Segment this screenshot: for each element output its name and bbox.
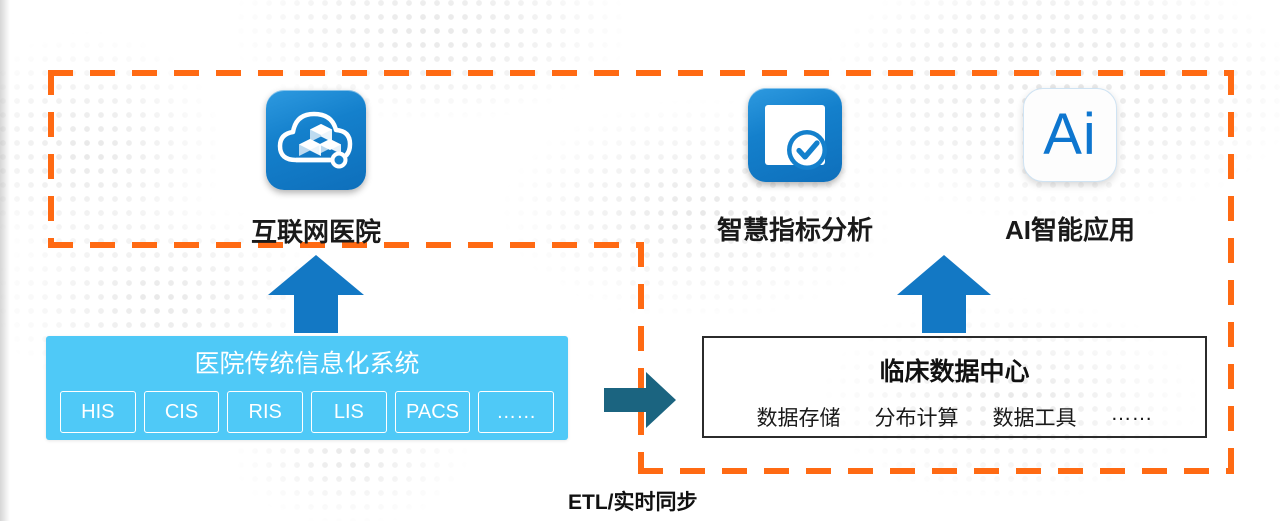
legacy-chip[interactable]: HIS xyxy=(60,391,136,433)
cdc-item[interactable]: 数据存储 xyxy=(757,402,841,432)
clinical-data-center-box[interactable]: 临床数据中心 数据存储 分布计算 数据工具 …… xyxy=(702,336,1207,438)
diagram-canvas: 互联网医院 智慧指标分析 Ai AI智能应用 xyxy=(0,0,1280,521)
ai-icon: Ai xyxy=(1023,88,1117,182)
legacy-chip[interactable]: RIS xyxy=(227,391,303,433)
legacy-system-title: 医院传统信息化系统 xyxy=(46,336,568,377)
background-dot-texture xyxy=(0,0,1280,521)
node-label-ai-application: AI智能应用 xyxy=(970,210,1170,247)
background-dot-texture xyxy=(0,0,1280,521)
cdc-item[interactable]: …… xyxy=(1111,402,1153,432)
legacy-system-chip-row: HIS CIS RIS LIS PACS …… xyxy=(46,391,568,433)
ai-icon-text: Ai xyxy=(1043,106,1097,164)
node-smart-metrics[interactable]: 智慧指标分析 xyxy=(695,88,895,247)
left-edge-shadow xyxy=(0,0,10,521)
legacy-chip[interactable]: PACS xyxy=(395,391,471,433)
arrow-up-icon xyxy=(897,255,991,338)
background-dot-texture xyxy=(0,0,1280,521)
clinical-data-center-title: 临床数据中心 xyxy=(704,352,1205,388)
legacy-chip[interactable]: …… xyxy=(478,391,554,433)
clinical-data-center-item-row: 数据存储 分布计算 数据工具 …… xyxy=(704,402,1205,432)
chart-check-icon xyxy=(748,88,842,182)
arrow-up-icon xyxy=(268,255,364,338)
cdc-item[interactable]: 数据工具 xyxy=(993,402,1077,432)
etl-sync-label: ETL/实时同步 xyxy=(568,486,698,516)
cdc-item[interactable]: 分布计算 xyxy=(875,402,959,432)
node-label-internet-hospital: 互联网医院 xyxy=(216,212,416,249)
node-label-smart-metrics: 智慧指标分析 xyxy=(695,210,895,247)
arrow-right-icon xyxy=(604,372,676,433)
background-dot-texture xyxy=(0,0,1280,521)
legacy-chip[interactable]: LIS xyxy=(311,391,387,433)
legacy-chip[interactable]: CIS xyxy=(144,391,220,433)
node-internet-hospital[interactable]: 互联网医院 xyxy=(216,90,416,249)
background-dot-texture xyxy=(0,0,1280,521)
background-dot-texture xyxy=(0,0,1280,521)
node-ai-application[interactable]: Ai AI智能应用 xyxy=(970,88,1170,247)
legacy-hospital-system-box[interactable]: 医院传统信息化系统 HIS CIS RIS LIS PACS …… xyxy=(46,336,568,440)
cloud-blocks-icon xyxy=(266,90,366,190)
background-dot-texture xyxy=(0,0,1280,521)
